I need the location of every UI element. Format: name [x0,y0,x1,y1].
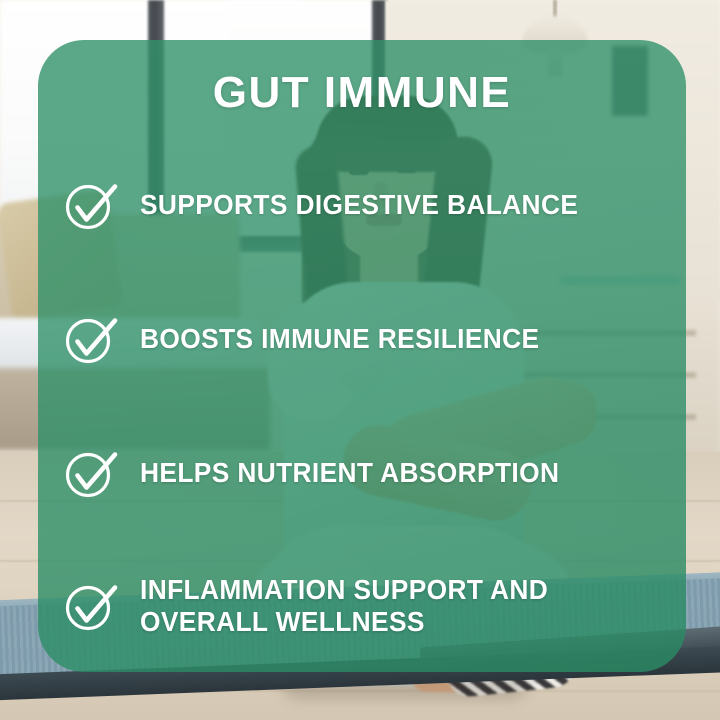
green-overlay-panel: GUT IMMUNE SUPPORTS DIGESTIVE BALANCE [38,40,686,672]
benefit-label: BOOSTS IMMUNE RESILIENCE [140,323,539,355]
benefits-graphic: GUT IMMUNE SUPPORTS DIGESTIVE BALANCE [0,0,720,720]
benefits-list: SUPPORTS DIGESTIVE BALANCE BOOSTS IMMUNE… [38,156,686,648]
check-circle-icon [62,312,116,366]
benefit-item: SUPPORTS DIGESTIVE BALANCE [62,178,662,232]
benefit-label-line1: SUPPORTS DIGESTIVE BALANCE [140,189,578,220]
benefit-item: BOOSTS IMMUNE RESILIENCE [62,312,662,366]
benefit-label: SUPPORTS DIGESTIVE BALANCE [140,189,578,221]
benefit-label-line1: HELPS NUTRIENT ABSORPTION [140,457,559,488]
benefit-item: HELPS NUTRIENT ABSORPTION [62,446,662,500]
check-circle-icon [62,446,116,500]
benefit-label: INFLAMMATION SUPPORT AND OVERALL WELLNES… [140,574,548,638]
benefit-item: INFLAMMATION SUPPORT AND OVERALL WELLNES… [62,574,662,638]
check-circle-icon [62,178,116,232]
benefit-label-line1: INFLAMMATION SUPPORT AND [140,574,548,605]
benefit-label: HELPS NUTRIENT ABSORPTION [140,457,559,489]
benefit-label-line1: BOOSTS IMMUNE RESILIENCE [140,323,539,354]
benefit-label-line2: OVERALL WELLNESS [140,606,548,638]
page-title: GUT IMMUNE [38,68,686,118]
check-circle-icon [62,579,116,633]
